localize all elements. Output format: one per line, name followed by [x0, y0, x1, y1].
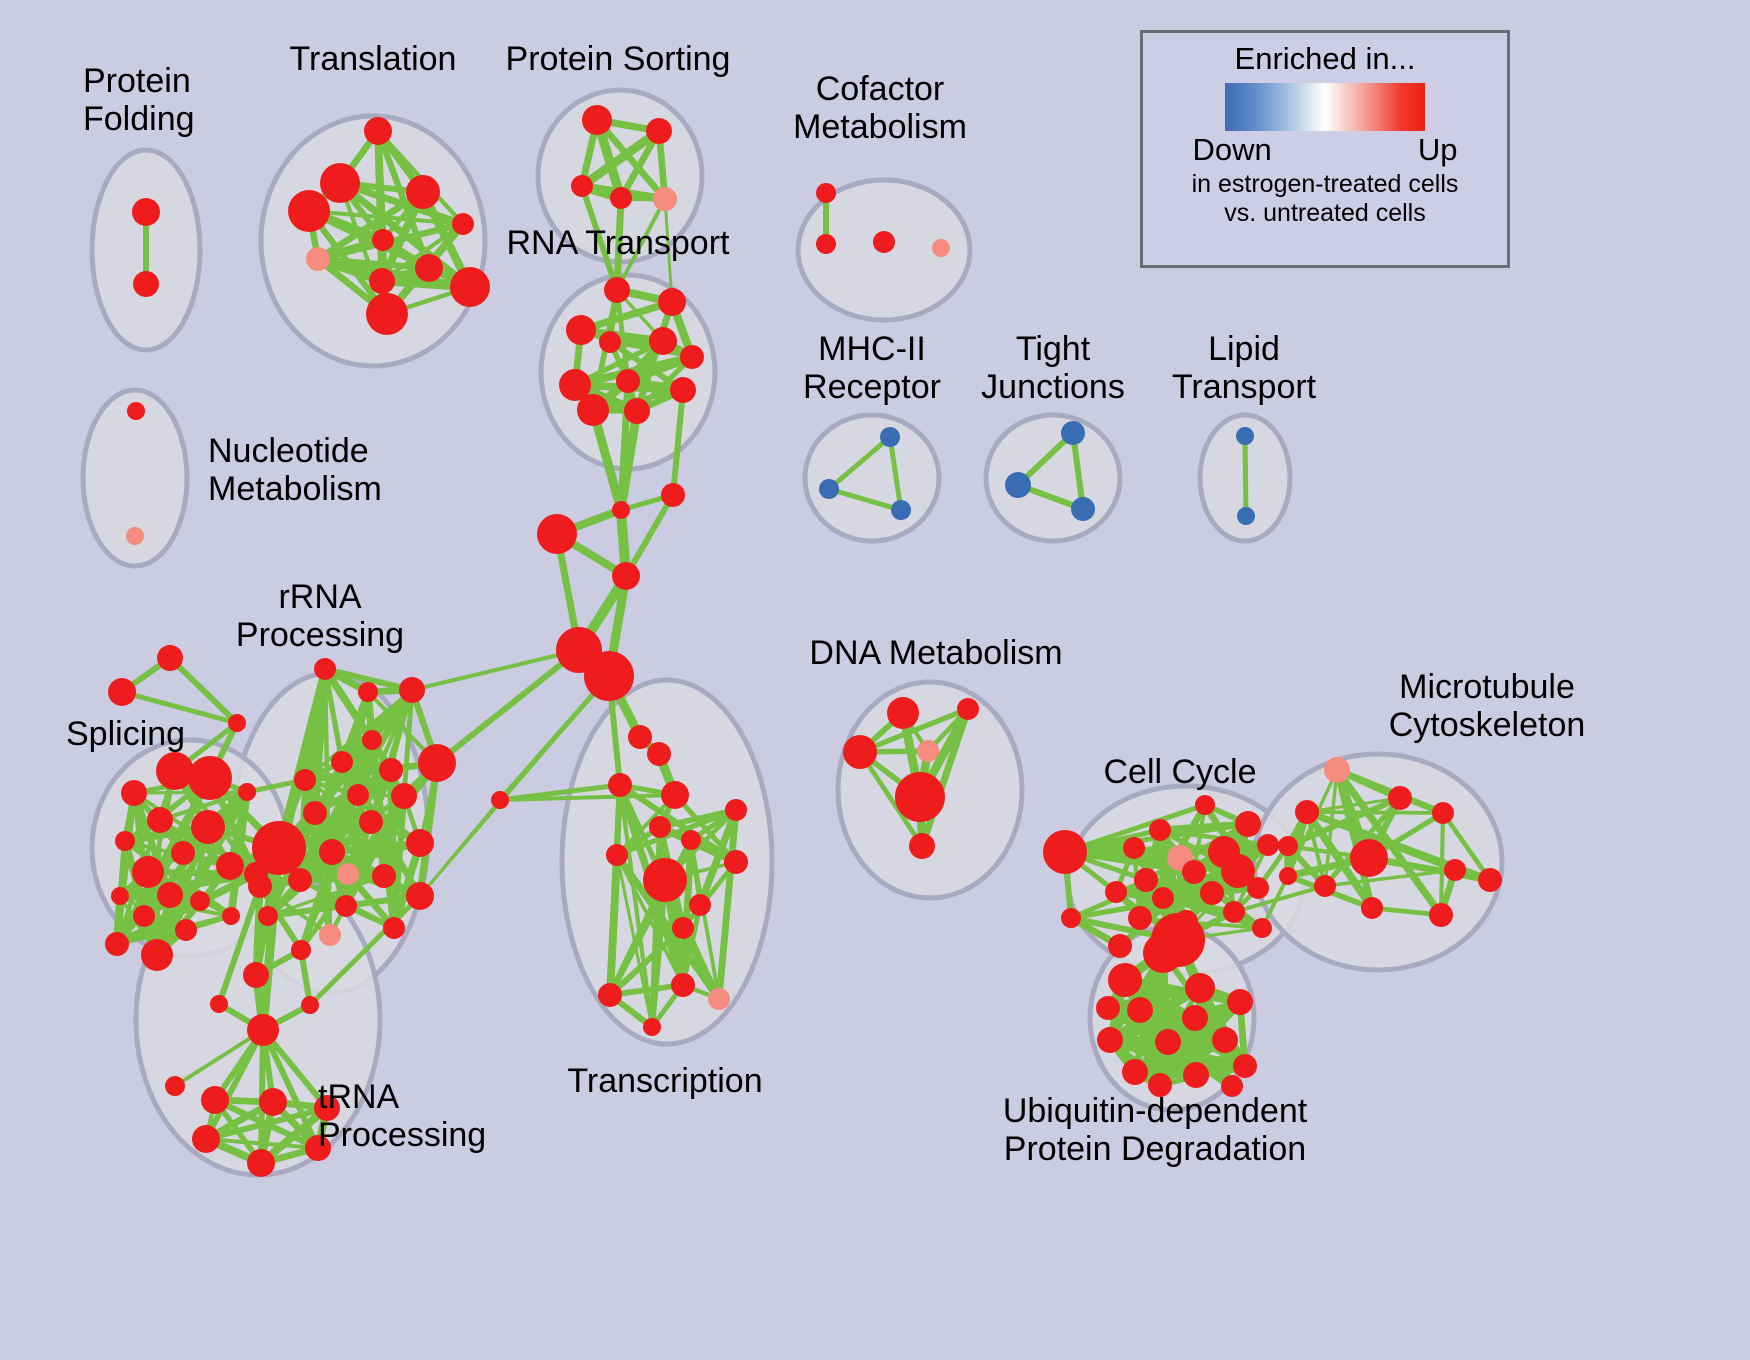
network-node[interactable] — [1134, 868, 1158, 892]
network-node[interactable] — [1235, 811, 1261, 837]
network-node[interactable] — [1478, 868, 1502, 892]
network-node[interactable] — [175, 919, 197, 941]
network-node[interactable] — [1237, 507, 1255, 525]
network-node[interactable] — [649, 327, 677, 355]
network-node[interactable] — [331, 751, 353, 773]
network-node[interactable] — [1200, 881, 1224, 905]
network-node[interactable] — [1105, 881, 1127, 903]
network-node[interactable] — [1295, 800, 1319, 824]
network-node[interactable] — [724, 850, 748, 874]
network-node[interactable] — [816, 234, 836, 254]
network-node[interactable] — [243, 962, 269, 988]
network-node[interactable] — [228, 714, 246, 732]
network-node[interactable] — [880, 427, 900, 447]
legend-high-label: Up — [1418, 132, 1458, 168]
network-node[interactable] — [291, 940, 311, 960]
network-node[interactable] — [1123, 837, 1145, 859]
network-node[interactable] — [314, 658, 336, 680]
network-node[interactable] — [156, 752, 194, 790]
legend-endpoints: Down Up — [1193, 132, 1458, 168]
network-node[interactable] — [366, 293, 408, 335]
network-node[interactable] — [305, 1135, 331, 1161]
network-node[interactable] — [661, 781, 689, 809]
network-node[interactable] — [1127, 997, 1153, 1023]
network-node[interactable] — [191, 810, 225, 844]
network-node[interactable] — [1212, 1027, 1238, 1053]
network-node[interactable] — [1257, 834, 1279, 856]
network-node[interactable] — [391, 783, 417, 809]
network-edge — [617, 198, 621, 290]
network-node[interactable] — [1278, 836, 1298, 856]
network-node[interactable] — [895, 772, 945, 822]
network-node[interactable] — [127, 402, 145, 420]
network-node[interactable] — [1149, 819, 1171, 841]
network-node[interactable] — [222, 907, 240, 925]
network-node[interactable] — [126, 527, 144, 545]
network-edge — [1245, 436, 1246, 516]
network-node[interactable] — [577, 394, 609, 426]
network-node[interactable] — [1155, 1029, 1181, 1055]
network-node[interactable] — [1429, 903, 1453, 927]
network-node[interactable] — [147, 807, 173, 833]
network-node[interactable] — [891, 500, 911, 520]
network-node[interactable] — [672, 917, 694, 939]
network-node[interactable] — [624, 398, 650, 424]
network-node[interactable] — [957, 698, 979, 720]
network-node[interactable] — [133, 271, 159, 297]
network-node[interactable] — [337, 863, 359, 885]
network-node[interactable] — [192, 1125, 220, 1153]
network-node[interactable] — [406, 829, 434, 857]
network-node[interactable] — [1324, 757, 1350, 783]
network-node[interactable] — [608, 773, 632, 797]
network-node[interactable] — [1247, 877, 1269, 899]
network-node[interactable] — [1233, 1054, 1257, 1078]
network-node[interactable] — [571, 175, 593, 197]
network-node[interactable] — [1314, 875, 1336, 897]
network-node[interactable] — [201, 1086, 229, 1114]
cluster-ellipse-mhc-ii-receptor — [805, 415, 939, 541]
network-node[interactable] — [1227, 989, 1253, 1015]
network-node[interactable] — [689, 894, 711, 916]
network-node[interactable] — [661, 483, 685, 507]
network-node[interactable] — [358, 682, 378, 702]
network-node[interactable] — [111, 887, 129, 905]
network-edge — [134, 792, 247, 793]
network-node[interactable] — [133, 905, 155, 927]
network-edge — [1307, 812, 1443, 813]
network-node[interactable] — [1128, 906, 1152, 930]
network-node[interactable] — [647, 742, 671, 766]
network-node[interactable] — [362, 730, 382, 750]
network-node[interactable] — [584, 651, 634, 701]
legend-panel: Enriched in... Down Up in estrogen-treat… — [1140, 30, 1510, 268]
network-node[interactable] — [582, 105, 612, 135]
legend-gradient-bar — [1225, 83, 1425, 131]
legend-low-label: Down — [1193, 132, 1272, 168]
network-node[interactable] — [1388, 786, 1412, 810]
network-node[interactable] — [628, 725, 652, 749]
network-node[interactable] — [157, 882, 183, 908]
network-node[interactable] — [873, 231, 895, 253]
enrichment-network-figure: Protein FoldingTranslationProtein Sortin… — [0, 0, 1750, 1360]
network-node[interactable] — [406, 882, 434, 910]
network-node[interactable] — [314, 1095, 340, 1121]
network-node[interactable] — [399, 677, 425, 703]
network-node[interactable] — [247, 1014, 279, 1046]
network-node[interactable] — [491, 791, 509, 809]
network-node[interactable] — [259, 1088, 287, 1116]
network-node[interactable] — [210, 995, 228, 1013]
network-node[interactable] — [1182, 1005, 1208, 1031]
network-node[interactable] — [725, 799, 747, 821]
network-node[interactable] — [1361, 897, 1383, 919]
network-node[interactable] — [132, 198, 160, 226]
network-node[interactable] — [1185, 973, 1215, 1003]
network-node[interactable] — [708, 988, 730, 1010]
cluster-ellipse-tight-junctions — [986, 415, 1120, 541]
network-node[interactable] — [843, 735, 877, 769]
network-node[interactable] — [1148, 1073, 1172, 1097]
network-node[interactable] — [415, 254, 443, 282]
network-node[interactable] — [599, 331, 621, 353]
network-node[interactable] — [1108, 934, 1132, 958]
network-node[interactable] — [248, 874, 272, 898]
network-node[interactable] — [372, 229, 394, 251]
network-node[interactable] — [610, 187, 632, 209]
network-node[interactable] — [1122, 1059, 1148, 1085]
network-node[interactable] — [418, 744, 456, 782]
network-node[interactable] — [1143, 933, 1183, 973]
legend-title: Enriched in... — [1235, 41, 1416, 77]
network-node[interactable] — [359, 810, 383, 834]
network-node[interactable] — [566, 315, 596, 345]
network-node[interactable] — [303, 801, 327, 825]
network-node[interactable] — [406, 175, 440, 209]
network-node[interactable] — [247, 1149, 275, 1177]
network-node[interactable] — [1195, 795, 1215, 815]
network-node[interactable] — [1444, 859, 1466, 881]
network-node[interactable] — [816, 183, 836, 203]
network-node[interactable] — [1005, 472, 1031, 498]
network-node[interactable] — [1152, 887, 1174, 909]
network-node[interactable] — [216, 852, 244, 880]
network-node[interactable] — [258, 906, 278, 926]
network-node[interactable] — [670, 377, 696, 403]
network-node[interactable] — [671, 973, 695, 997]
network-node[interactable] — [612, 501, 630, 519]
network-node[interactable] — [288, 190, 330, 232]
network-node[interactable] — [1182, 860, 1206, 884]
network-node[interactable] — [1061, 421, 1085, 445]
network-node[interactable] — [681, 830, 701, 850]
network-node[interactable] — [452, 213, 474, 235]
network-node[interactable] — [319, 839, 345, 865]
network-node[interactable] — [165, 1076, 185, 1096]
network-node[interactable] — [132, 856, 164, 888]
network-node[interactable] — [335, 895, 357, 917]
network-node[interactable] — [1043, 830, 1087, 874]
network-node[interactable] — [658, 288, 686, 316]
network-node[interactable] — [171, 841, 195, 865]
network-node[interactable] — [238, 783, 256, 801]
network-node[interactable] — [537, 514, 577, 554]
network-node[interactable] — [1108, 963, 1142, 997]
network-node[interactable] — [1183, 1062, 1209, 1088]
network-node[interactable] — [450, 267, 490, 307]
network-node[interactable] — [141, 939, 173, 971]
network-node[interactable] — [121, 780, 147, 806]
network-node[interactable] — [1350, 839, 1388, 877]
network-node[interactable] — [932, 239, 950, 257]
network-node[interactable] — [909, 833, 935, 859]
network-node[interactable] — [379, 758, 403, 782]
network-node[interactable] — [108, 678, 136, 706]
legend-subtitle: in estrogen-treated cells vs. untreated … — [1192, 170, 1459, 228]
network-node[interactable] — [319, 924, 341, 946]
network-node[interactable] — [887, 697, 919, 729]
network-node[interactable] — [372, 864, 396, 888]
network-node[interactable] — [288, 868, 312, 892]
network-node[interactable] — [306, 247, 330, 271]
network-node[interactable] — [1097, 1027, 1123, 1053]
network-node[interactable] — [643, 1018, 661, 1036]
network-node[interactable] — [1096, 996, 1120, 1020]
network-node[interactable] — [598, 983, 622, 1007]
network-node[interactable] — [643, 858, 687, 902]
network-node[interactable] — [1279, 867, 1297, 885]
network-node[interactable] — [917, 740, 939, 762]
network-node[interactable] — [646, 118, 672, 144]
network-node[interactable] — [105, 932, 129, 956]
network-node[interactable] — [347, 784, 369, 806]
network-node[interactable] — [612, 562, 640, 590]
network-node[interactable] — [819, 479, 839, 499]
network-node[interactable] — [188, 756, 232, 800]
network-node[interactable] — [649, 816, 671, 838]
network-node[interactable] — [604, 277, 630, 303]
network-node[interactable] — [680, 345, 704, 369]
network-node[interactable] — [1432, 802, 1454, 824]
network-node[interactable] — [606, 844, 628, 866]
network-node[interactable] — [364, 117, 392, 145]
network-node[interactable] — [115, 831, 135, 851]
network-node[interactable] — [369, 268, 395, 294]
network-node[interactable] — [653, 187, 677, 211]
network-node[interactable] — [1071, 497, 1095, 521]
network-node[interactable] — [1221, 1075, 1243, 1097]
network-node[interactable] — [1236, 427, 1254, 445]
network-node[interactable] — [1061, 908, 1081, 928]
network-node[interactable] — [294, 769, 316, 791]
network-node[interactable] — [320, 163, 360, 203]
network-node[interactable] — [301, 996, 319, 1014]
network-node[interactable] — [190, 891, 210, 911]
network-node[interactable] — [616, 369, 640, 393]
network-node[interactable] — [383, 917, 405, 939]
network-node[interactable] — [157, 645, 183, 671]
network-node[interactable] — [252, 821, 306, 875]
network-node[interactable] — [1223, 901, 1245, 923]
network-node[interactable] — [1252, 918, 1272, 938]
